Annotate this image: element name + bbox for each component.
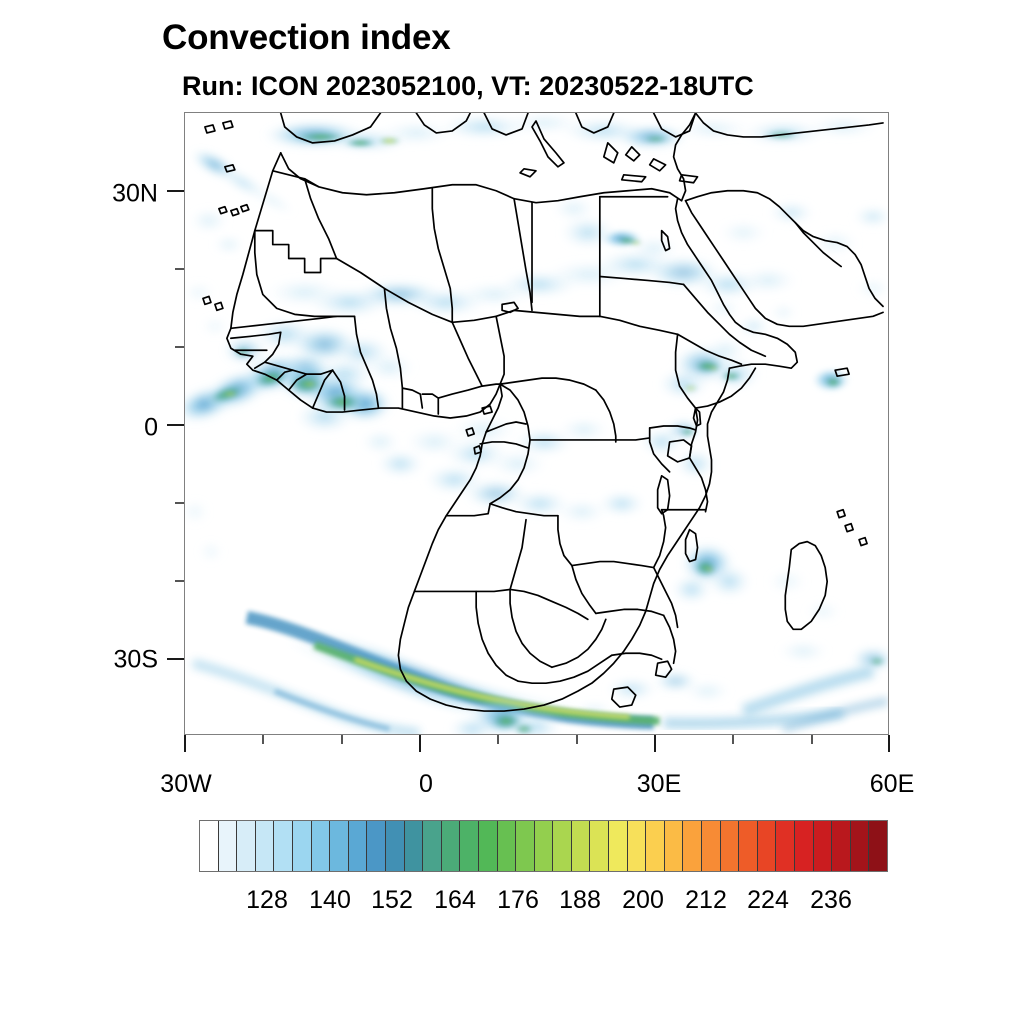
colorbar-cell (479, 821, 498, 871)
colorbar-cell (869, 821, 887, 871)
colorbar-cell (293, 821, 312, 871)
colorbar-cell (702, 821, 721, 871)
figure-root: Convection index Run: ICON 2023052100, V… (0, 0, 1024, 1024)
x-tick-minor-10e (497, 735, 499, 744)
colorbar-cell (256, 821, 275, 871)
colorbar-cell (405, 821, 424, 871)
colorbar (199, 820, 888, 872)
x-tick-major-0 (419, 735, 421, 752)
x-tick-minor-20w (262, 735, 264, 744)
colorbar-cell (739, 821, 758, 871)
colorbar-label-176: 176 (497, 886, 539, 915)
colorbar-cell (628, 821, 647, 871)
colorbar-cell (349, 821, 368, 871)
figure-subtitle: Run: ICON 2023052100, VT: 20230522-18UTC (182, 71, 754, 102)
colorbar-cell (367, 821, 386, 871)
colorbar-cell (237, 821, 256, 871)
page-title: Convection index (162, 18, 451, 58)
colorbar-cell (832, 821, 851, 871)
y-axis-label-30s: 30S (98, 646, 158, 675)
colorbar-cell (330, 821, 349, 871)
y-axis-label-0: 0 (98, 414, 158, 443)
colorbar-label-200: 200 (622, 886, 664, 915)
y-tick-major-30n (167, 190, 184, 192)
colorbar-cell (498, 821, 517, 871)
y-tick-minor-10s (175, 502, 184, 504)
colorbar-label-224: 224 (747, 886, 789, 915)
colorbar-cell (553, 821, 572, 871)
colorbar-cell (442, 821, 461, 871)
colorbar-cell (312, 821, 331, 871)
colorbar-cell (460, 821, 479, 871)
x-tick-minor-20e (576, 735, 578, 744)
colorbar-cell (758, 821, 777, 871)
colorbar-cell (814, 821, 833, 871)
colorbar-cell (535, 821, 554, 871)
colorbar-cell (590, 821, 609, 871)
x-tick-major-30w (184, 735, 186, 752)
colorbar-cell (386, 821, 405, 871)
y-tick-minor-20n (175, 268, 184, 270)
colorbar-label-128: 128 (246, 886, 288, 915)
y-axis-label-30n: 30N (98, 180, 158, 209)
x-axis-label-30w: 30W (160, 770, 211, 799)
colorbar-label-188: 188 (559, 886, 601, 915)
x-tick-major-60e (888, 735, 890, 752)
colorbar-cell (572, 821, 591, 871)
colorbar-cell (200, 821, 219, 871)
y-tick-major-30s (167, 658, 184, 660)
x-tick-major-30e (654, 735, 656, 752)
colorbar-cell (665, 821, 684, 871)
y-tick-minor-10n (175, 346, 184, 348)
colorbar-label-236: 236 (810, 886, 852, 915)
colorbar-cell (423, 821, 442, 871)
colorbar-cell (851, 821, 870, 871)
x-tick-minor-40e (732, 735, 734, 744)
x-axis-label-60e: 60E (870, 770, 914, 799)
y-tick-major-0 (167, 424, 184, 426)
colorbar-cell (776, 821, 795, 871)
colorbar-label-152: 152 (371, 886, 413, 915)
x-axis-label-0: 0 (419, 770, 433, 799)
colorbar-label-164: 164 (434, 886, 476, 915)
colorbar-label-212: 212 (685, 886, 727, 915)
x-tick-minor-50e (811, 735, 813, 744)
x-axis-label-30e: 30E (637, 770, 681, 799)
colorbar-cell (795, 821, 814, 871)
colorbar-cell (219, 821, 238, 871)
map-plot-area (184, 112, 889, 735)
colorbar-cell (721, 821, 740, 871)
map-canvas (185, 113, 888, 734)
colorbar-cell (609, 821, 628, 871)
colorbar-cell (646, 821, 665, 871)
colorbar-label-140: 140 (309, 886, 351, 915)
x-tick-minor-10w (341, 735, 343, 744)
colorbar-cell (516, 821, 535, 871)
colorbar-cell (274, 821, 293, 871)
y-tick-minor-20s (175, 580, 184, 582)
colorbar-cell (683, 821, 702, 871)
